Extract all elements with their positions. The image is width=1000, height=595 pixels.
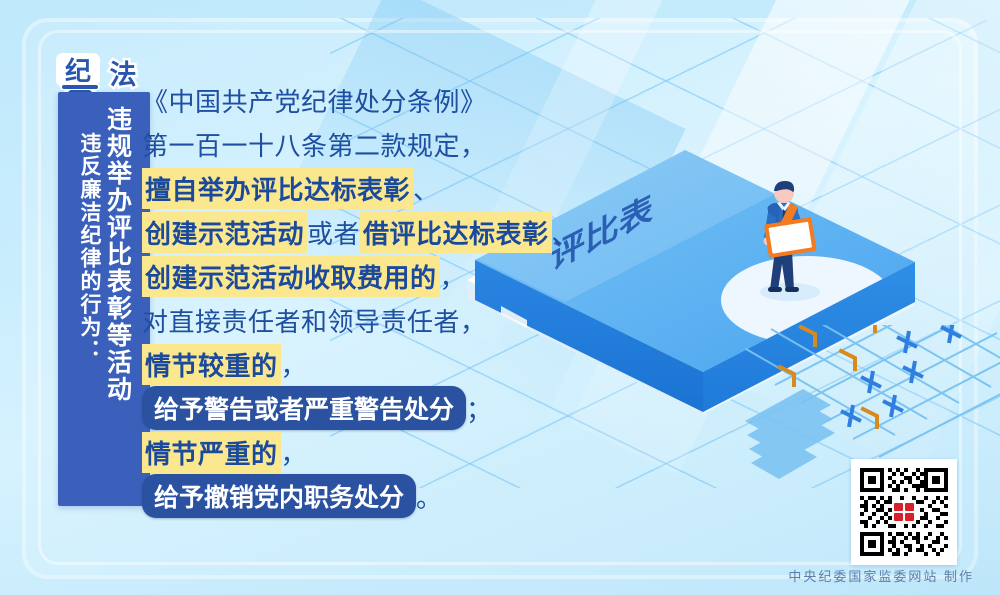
plain-text: ， [281, 434, 308, 471]
regulation-line: 情节严重的， [142, 430, 662, 474]
regulation-text-block: 《中国共产党纪律处分条例》第一百一十八条第二款规定，擅自举办评比达标表彰、创建示… [142, 78, 662, 518]
regulation-line: 给予警告或者严重警告处分； [142, 386, 662, 430]
regulation-line: 创建示范活动 或者 借评比达标表彰、 [142, 210, 662, 254]
highlighted-clause: 借评比达标表彰 [360, 212, 552, 253]
plain-text: 对直接责任者和领导责任者， [142, 302, 487, 339]
logo-char-fa: 法 [110, 60, 137, 90]
regulation-line: 第一百一十八条第二款规定， [142, 122, 662, 166]
illustration-figure [744, 176, 854, 302]
highlighted-clause: 擅自举办评比达标表彰 [142, 168, 413, 209]
regulation-line: 情节较重的， [142, 342, 662, 386]
regulation-line: 擅自举办评比达标表彰、 [142, 166, 662, 210]
plain-text: 、 [413, 170, 440, 207]
regulation-line: 对直接责任者和领导责任者， [142, 298, 662, 342]
plain-text: 或者 [307, 214, 360, 251]
qr-code[interactable] [851, 459, 957, 565]
plain-text: 。 [416, 478, 443, 515]
plain-text: 《中国共产党纪律处分条例》 [142, 82, 487, 119]
highlighted-clause: 情节较重的 [142, 344, 281, 385]
plain-text: ， [440, 258, 467, 295]
highlighted-clause: 创建示范活动收取费用的 [142, 256, 440, 297]
banner-sub-text: 违反廉洁纪律的行为： [79, 106, 100, 496]
highlighted-clause: 情节严重的 [142, 432, 281, 473]
plain-text: 第一百一十八条第二款规定， [142, 126, 487, 163]
penalty-pill: 给予撤销党内职务处分 [142, 474, 416, 518]
poster-root: 评比表 [0, 0, 1000, 595]
plain-text: 、 [552, 214, 579, 251]
penalty-pill: 给予警告或者严重警告处分 [142, 386, 466, 430]
credit-text: 中央纪委国家监委网站 制作 [788, 566, 974, 585]
category-banner: 违规举办评比表彰等活动 违反廉洁纪律的行为： [58, 92, 150, 506]
regulation-line: 创建示范活动收取费用的， [142, 254, 662, 298]
plain-text: ， [281, 346, 308, 383]
logo-char-ji: 纪 [65, 56, 91, 86]
plain-text: ； [466, 390, 493, 427]
regulation-line: 《中国共产党纪律处分条例》 [142, 78, 662, 122]
highlighted-clause: 创建示范活动 [142, 212, 307, 253]
banner-main-text: 违规举办评比表彰等活动 [104, 106, 130, 496]
regulation-line: 给予撤销党内职务处分。 [142, 474, 662, 518]
